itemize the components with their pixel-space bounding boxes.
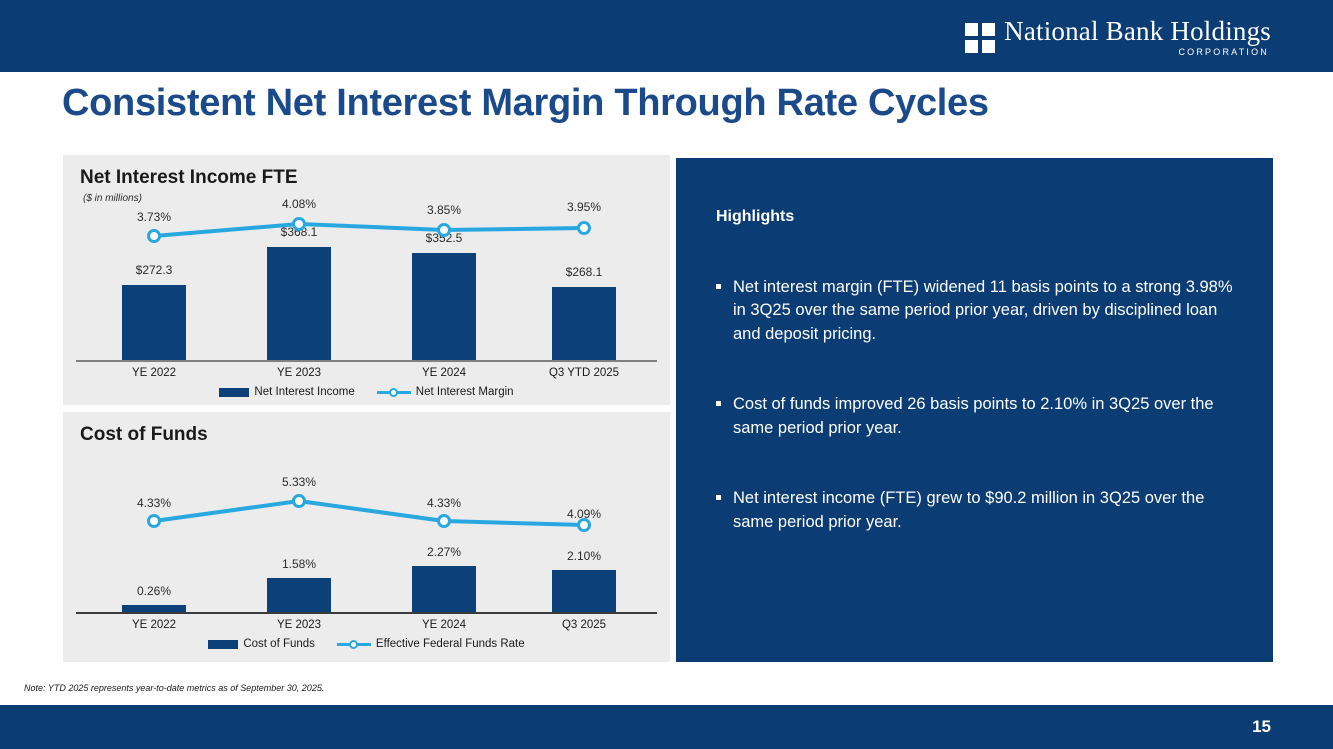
legend-cof: Cost of Funds Effective Federal Funds Ra… [63, 638, 670, 650]
highlights-list: Net interest margin (FTE) widened 11 bas… [716, 276, 1241, 581]
legend-label-effective-federal-funds-rate: Effective Federal Funds Rate [376, 638, 525, 650]
legend-bar-swatch-icon [208, 640, 238, 649]
list-item: Cost of funds improved 26 basis points t… [716, 393, 1241, 440]
category-label-cof-0: YE 2022 [109, 619, 199, 631]
legend-item-effective-federal-funds-rate: Effective Federal Funds Rate [337, 638, 525, 650]
legend-label-net-interest-income: Net Interest Income [254, 386, 354, 398]
category-label-cof-2: YE 2024 [399, 619, 489, 631]
category-label-cof-3: Q3 2025 [539, 619, 629, 631]
legend-item-cost-of-funds: Cost of Funds [208, 638, 315, 650]
legend-item-net-interest-income: Net Interest Income [219, 386, 354, 398]
legend-item-net-interest-margin: Net Interest Margin [377, 386, 514, 398]
legend-label-cost-of-funds: Cost of Funds [243, 638, 315, 650]
line-label-nii-1: 4.08% [254, 197, 344, 211]
highlights-title: Highlights [716, 208, 794, 226]
line-label-cof-1: 5.33% [254, 475, 344, 489]
chart-panel-cost-of-funds: Cost of Funds 0.26% 1.58% 2.27% 2.10% 4.… [63, 412, 670, 662]
legend-line-marker-icon [337, 639, 371, 649]
chart-panel-net-interest-income: Net Interest Income FTE ($ in millions) … [63, 155, 670, 405]
x-axis-nii [76, 360, 657, 362]
list-item: Net interest income (FTE) grew to $90.2 … [716, 487, 1241, 534]
category-label-nii-3: Q3 YTD 2025 [539, 367, 629, 379]
highlights-panel: Highlights Net interest margin (FTE) wid… [676, 158, 1273, 662]
plot-area-nii: $272.3 $368.1 $352.5 $268.1 3.73% 4.08% … [63, 155, 670, 405]
slide: National Bank Holdings CORPORATION Consi… [0, 0, 1333, 749]
category-label-cof-1: YE 2023 [254, 619, 344, 631]
page-title: Consistent Net Interest Margin Through R… [62, 82, 989, 125]
legend-line-marker-icon [377, 387, 411, 397]
footnote: Note: YTD 2025 represents year-to-date m… [24, 683, 324, 693]
legend-label-net-interest-margin: Net Interest Margin [416, 386, 514, 398]
category-label-nii-1: YE 2023 [254, 367, 344, 379]
list-item: Net interest margin (FTE) widened 11 bas… [716, 276, 1241, 346]
line-label-cof-0: 4.33% [109, 496, 199, 510]
line-label-nii-2: 3.85% [399, 203, 489, 217]
line-label-nii-3: 3.95% [539, 200, 629, 214]
page-number: 15 [1252, 717, 1271, 737]
logo-wordmark: National Bank Holdings CORPORATION [1004, 18, 1271, 57]
category-label-nii-2: YE 2024 [399, 367, 489, 379]
four-square-logo-icon [965, 23, 995, 53]
logo-name: National Bank Holdings [1004, 18, 1271, 45]
x-axis-cof [76, 612, 657, 614]
plot-area-cof: 0.26% 1.58% 2.27% 2.10% 4.33% 5.33% 4.33… [63, 412, 670, 662]
line-label-cof-3: 4.09% [539, 507, 629, 521]
legend-nii: Net Interest Income Net Interest Margin [63, 386, 670, 398]
category-label-nii-0: YE 2022 [109, 367, 199, 379]
company-logo: National Bank Holdings CORPORATION [965, 18, 1271, 57]
line-label-cof-2: 4.33% [399, 496, 489, 510]
footer-band [0, 705, 1333, 749]
logo-subtitle: CORPORATION [1178, 48, 1269, 57]
line-label-nii-0: 3.73% [109, 210, 199, 224]
legend-bar-swatch-icon [219, 388, 249, 397]
header-band: National Bank Holdings CORPORATION [0, 0, 1333, 72]
